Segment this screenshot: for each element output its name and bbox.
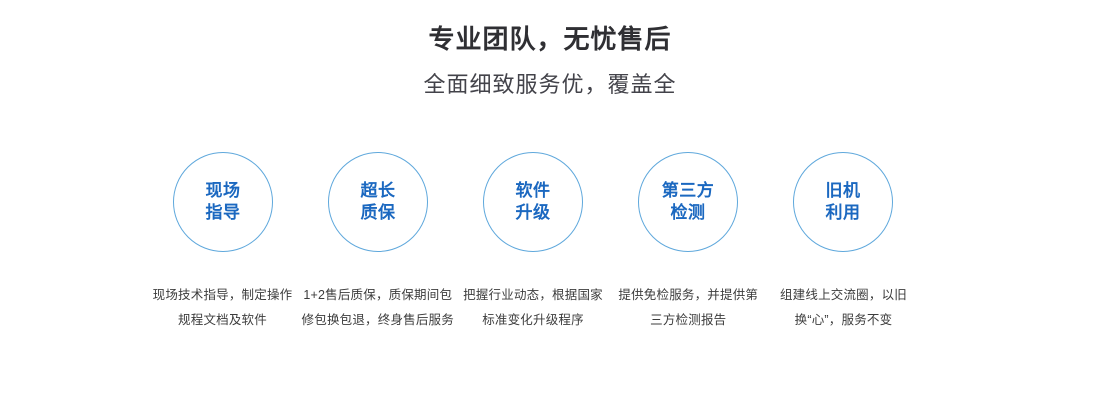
circle-label-line2: 质保 — [361, 202, 396, 224]
circle-label-line2: 升级 — [516, 202, 551, 224]
caption-line1: 组建线上交流圈，以旧 — [766, 283, 921, 308]
caption-line2: 换“心”，服务不变 — [766, 308, 921, 333]
circle-label-line1: 旧机 — [826, 180, 861, 202]
circle-label-line2: 利用 — [826, 202, 861, 224]
caption-line1: 1+2售后质保，质保期间包 — [300, 283, 455, 308]
after-sales-service-section: 专业团队，无忧售后 全面细致服务优，覆盖全 现场 指导 超长 质保 软件 升级 … — [0, 0, 1100, 404]
caption-line2: 标准变化升级程序 — [456, 308, 611, 333]
caption-line1: 现场技术指导，制定操作 — [145, 283, 300, 308]
caption-line2: 规程文档及软件 — [145, 308, 300, 333]
page-title: 专业团队，无忧售后 — [0, 22, 1100, 56]
circle-label-line1: 第三方 — [662, 180, 715, 202]
caption-line2: 修包换包退，终身售后服务 — [300, 308, 455, 333]
feature-caption-onsite-guidance: 现场技术指导，制定操作 规程文档及软件 — [145, 283, 300, 333]
feature-circle-onsite-guidance[interactable]: 现场 指导 — [173, 152, 273, 252]
feature-caption-software-upgrade: 把握行业动态，根据国家 标准变化升级程序 — [456, 283, 611, 333]
feature-circle-third-party-testing[interactable]: 第三方 检测 — [638, 152, 738, 252]
caption-line1: 把握行业动态，根据国家 — [456, 283, 611, 308]
page-subtitle: 全面细致服务优，覆盖全 — [0, 56, 1100, 100]
circle-label-line2: 指导 — [206, 202, 241, 224]
circle-label-line1: 软件 — [516, 180, 551, 202]
feature-circles-row: 现场 指导 超长 质保 软件 升级 第三方 检测 旧机 利用 — [173, 152, 893, 252]
feature-caption-third-party-testing: 提供免检服务，并提供第 三方检测报告 — [611, 283, 766, 333]
feature-circle-old-machine-reuse[interactable]: 旧机 利用 — [793, 152, 893, 252]
circle-label-line1: 现场 — [206, 180, 241, 202]
caption-line1: 提供免检服务，并提供第 — [611, 283, 766, 308]
circle-label-line1: 超长 — [361, 180, 396, 202]
feature-circle-extended-warranty[interactable]: 超长 质保 — [328, 152, 428, 252]
feature-caption-extended-warranty: 1+2售后质保，质保期间包 修包换包退，终身售后服务 — [300, 283, 455, 333]
caption-line2: 三方检测报告 — [611, 308, 766, 333]
feature-caption-old-machine-reuse: 组建线上交流圈，以旧 换“心”，服务不变 — [766, 283, 921, 333]
feature-circle-software-upgrade[interactable]: 软件 升级 — [483, 152, 583, 252]
circle-label-line2: 检测 — [671, 202, 706, 224]
feature-captions-row: 现场技术指导，制定操作 规程文档及软件 1+2售后质保，质保期间包 修包换包退，… — [145, 283, 921, 333]
heading-block: 专业团队，无忧售后 全面细致服务优，覆盖全 — [0, 0, 1100, 100]
